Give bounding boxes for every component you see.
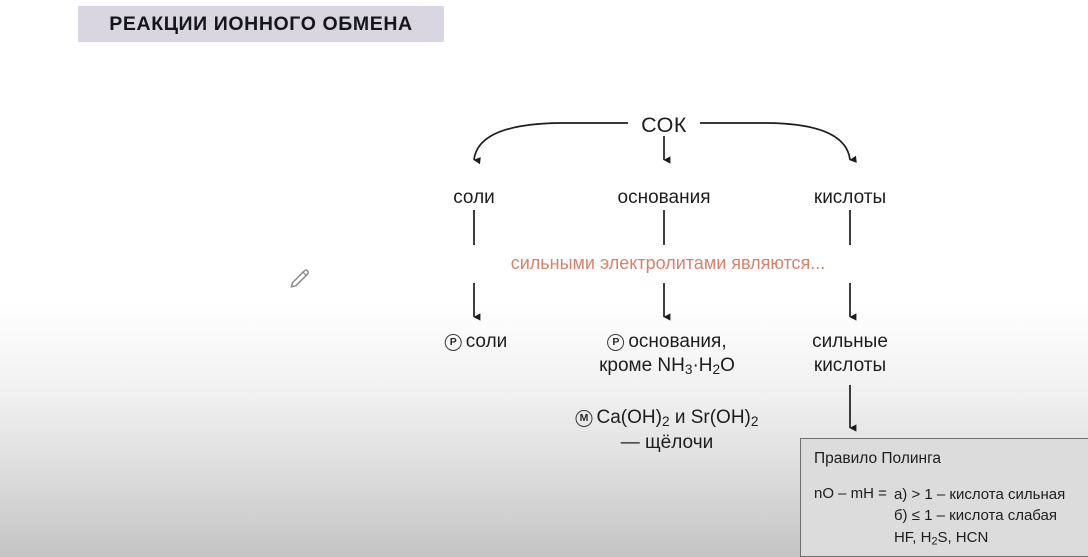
pauling-case-a: а) > 1 – кислота сильная <box>894 484 1065 505</box>
soluble-marker-icon: Р <box>445 334 462 351</box>
pauling-weak-acid-examples: HF, H2S, HCN <box>894 527 1065 550</box>
soluble-bases-line1: Роснования, <box>599 330 735 354</box>
diagram-node-root: СОК <box>641 112 687 140</box>
pencil-icon[interactable] <box>288 266 312 290</box>
diagram-node-soluble-salts: Рсоли <box>445 330 508 354</box>
pauling-rule-body: nO – mH = а) > 1 – кислота сильная б) ≤ … <box>814 484 1088 549</box>
slightly-soluble-marker-icon: М <box>576 410 593 427</box>
alkalis-line2: — щёлочи <box>576 431 759 455</box>
diagram-node-strong-acids: сильные кислоты <box>812 330 888 379</box>
soluble-marker-icon: Р <box>607 334 624 351</box>
strong-acids-line2: кислоты <box>812 354 888 378</box>
slide-title-banner: РЕАКЦИИ ИОННОГО ОБМЕНА <box>78 6 444 42</box>
diagram-node-soluble-bases: Роснования, кроме NH3·H2O <box>599 330 735 379</box>
diagram-node-acids: кислоты <box>814 186 886 210</box>
soluble-bases-line2: кроме NH3·H2O <box>599 354 735 379</box>
pauling-case-b: б) ≤ 1 – кислота слабая <box>894 505 1065 526</box>
pauling-formula-lhs: nO – mH = <box>814 484 887 502</box>
diagram-node-salts: соли <box>453 186 495 210</box>
diagram-node-bases: основания <box>618 186 711 210</box>
pauling-rule-title: Правило Полинга <box>814 450 1088 468</box>
diagram-node-alkalis: МCa(OH)2 и Sr(OH)2 — щёлочи <box>576 406 759 455</box>
strong-acids-line1: сильные <box>812 330 888 354</box>
alkalis-line1: МCa(OH)2 и Sr(OH)2 <box>576 406 759 431</box>
pauling-rule-box: Правило Полинга nO – mH = а) > 1 – кисло… <box>800 438 1088 557</box>
strong-electrolytes-note: сильными электролитами являются... <box>511 253 826 274</box>
slide-canvas: РЕАКЦИИ ИОННОГО ОБМЕНА СОК <box>0 0 1088 557</box>
pauling-cases: а) > 1 – кислота сильная б) ≤ 1 – кислот… <box>894 484 1065 549</box>
page-title: РЕАКЦИИ ИОННОГО ОБМЕНА <box>109 13 412 36</box>
soluble-salts-label: соли <box>466 331 508 352</box>
